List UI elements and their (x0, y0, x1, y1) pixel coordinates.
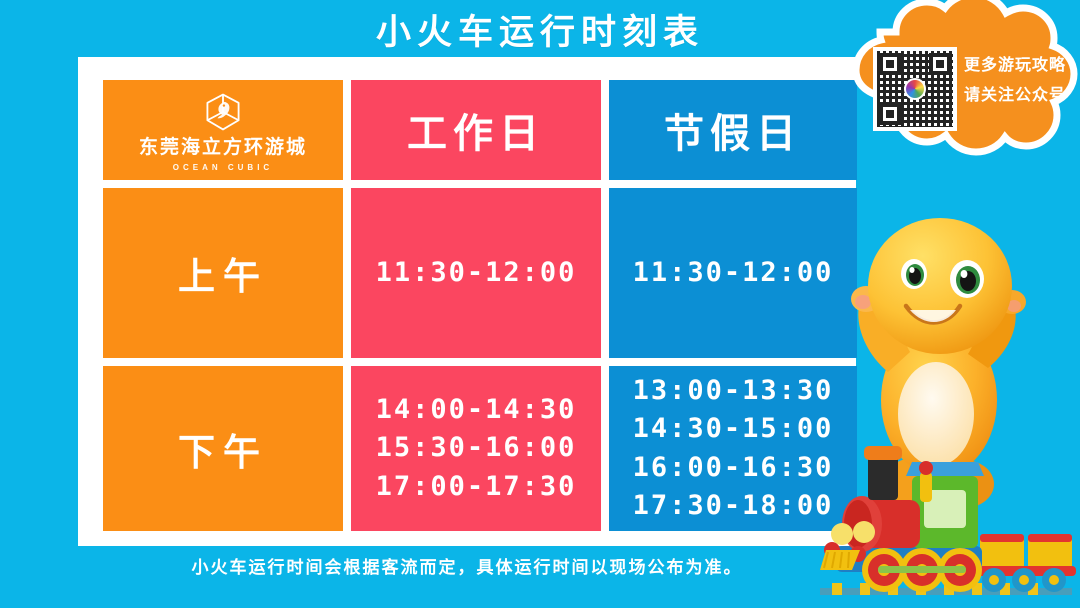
schedule-table: 东莞海立方环游城 OCEAN CUBIC 工作日 节假日 上午 11:30-12… (103, 80, 849, 523)
column-header-holiday: 节假日 (609, 80, 857, 180)
brand-name-en: OCEAN CUBIC (173, 163, 273, 172)
footer-note: 小火车运行时间会根据客流而定，具体运行时间以现场公布为准。 (78, 553, 856, 578)
column-header-holiday-label: 节假日 (664, 101, 802, 159)
time-slot: 14:30-15:00 (633, 414, 834, 444)
time-slot: 15:30-16:00 (376, 433, 577, 463)
promo-line-2: 请关注公众号 (964, 80, 1080, 110)
time-slot: 13:00-13:30 (633, 376, 834, 406)
row-label-morning-text: 上午 (178, 246, 268, 300)
column-header-weekday-label: 工作日 (407, 101, 545, 159)
time-slot: 11:30-12:00 (376, 258, 577, 288)
toy-train-illustration (812, 438, 1080, 608)
promo-cloud: 更多游玩攻略 请关注公众号 (852, 0, 1080, 172)
qr-code-icon[interactable] (873, 47, 957, 131)
time-list-afternoon-weekday: 14:00-14:3015:30-16:0017:00-17:30 (351, 395, 601, 502)
time-list-morning-weekday: 11:30-12:00 (351, 258, 601, 288)
cell-morning-weekday: 11:30-12:00 (351, 188, 601, 358)
time-slot: 14:00-14:30 (376, 395, 577, 425)
cell-afternoon-weekday: 14:00-14:3015:30-16:0017:00-17:30 (351, 366, 601, 531)
qr-finder-top-right (929, 53, 951, 75)
qr-finder-top-left (879, 53, 901, 75)
time-list-morning-holiday: 11:30-12:00 (609, 258, 857, 288)
cube-dolphin-icon (201, 90, 245, 134)
qr-center-logo (904, 78, 926, 100)
promo-text: 更多游玩攻略 请关注公众号 (964, 50, 1080, 109)
time-slot: 16:00-16:30 (633, 453, 834, 483)
row-label-afternoon: 下午 (103, 366, 343, 531)
row-label-morning: 上午 (103, 188, 343, 358)
qr-finder-bottom-left (879, 103, 901, 125)
time-slot: 11:30-12:00 (633, 258, 834, 288)
cell-morning-holiday: 11:30-12:00 (609, 188, 857, 358)
column-header-weekday: 工作日 (351, 80, 601, 180)
brand-name-cn: 东莞海立方环游城 (139, 137, 307, 158)
time-slot: 17:30-18:00 (633, 491, 834, 521)
promo-line-1: 更多游玩攻略 (964, 50, 1080, 80)
brand-logo-cell: 东莞海立方环游城 OCEAN CUBIC (103, 80, 343, 180)
time-slot: 17:00-17:30 (376, 472, 577, 502)
row-label-afternoon-text: 下午 (178, 422, 268, 476)
poster-stage: 小火车运行时刻表 东莞海立方环游城 OCEAN CUBIC 工作日 节假 (0, 0, 1080, 608)
